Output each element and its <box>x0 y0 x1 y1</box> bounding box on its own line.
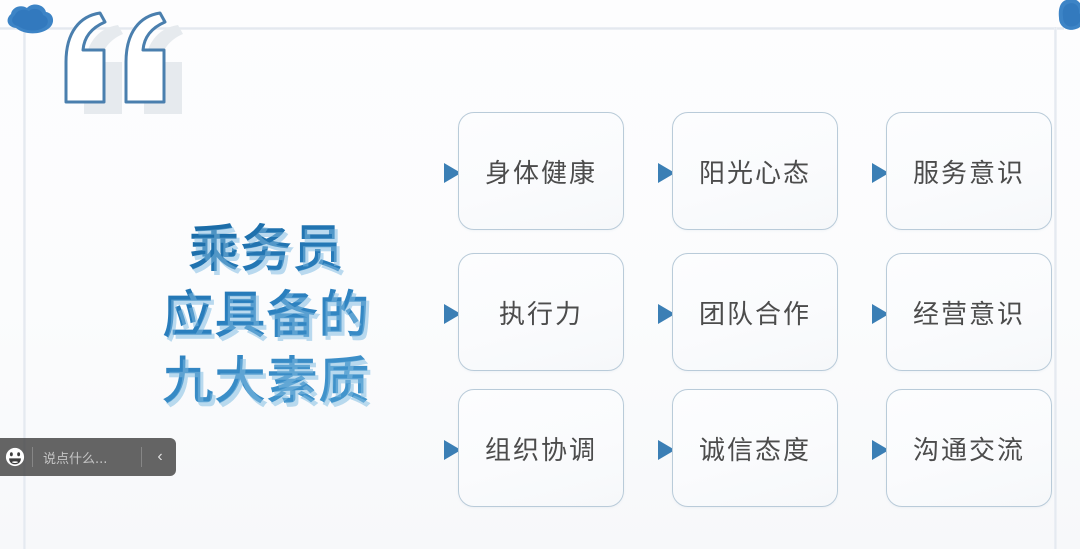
quality-label: 团队合作 <box>699 294 811 331</box>
quality-cell: 沟通交流 <box>868 389 1034 507</box>
quality-label: 身体健康 <box>485 153 597 190</box>
page-title-line-3: 九大素质 <box>142 348 392 414</box>
comment-input[interactable]: 说点什么... <box>35 448 139 467</box>
page-title-line-1: 乘务员 <box>142 216 392 282</box>
quality-box[interactable]: 组织协调 <box>458 389 624 507</box>
chevron-left-icon[interactable]: ‹ <box>144 438 176 476</box>
quality-label: 服务意识 <box>913 153 1025 190</box>
quality-cell: 组织协调 <box>440 389 606 507</box>
quality-cell: 执行力 <box>440 253 606 371</box>
quality-box[interactable]: 诚信态度 <box>672 389 838 507</box>
quality-cell: 团队合作 <box>654 253 820 371</box>
quality-box[interactable]: 服务意识 <box>886 112 1052 230</box>
page-title: 乘务员 应具备的 九大素质 <box>142 216 392 414</box>
quality-label: 阳光心态 <box>699 153 811 190</box>
quality-cell: 经营意识 <box>868 253 1034 371</box>
quality-label: 诚信态度 <box>699 430 811 467</box>
quality-box[interactable]: 团队合作 <box>672 253 838 371</box>
divider <box>32 447 33 467</box>
smiley-face-icon[interactable] <box>0 438 30 476</box>
quality-cell: 阳光心态 <box>654 112 820 230</box>
double-quote-icon <box>58 10 203 120</box>
quality-label: 经营意识 <box>913 294 1025 331</box>
quality-label: 执行力 <box>499 294 583 331</box>
comment-bar: 说点什么... ‹ <box>0 438 176 476</box>
quality-box[interactable]: 身体健康 <box>458 112 624 230</box>
quality-box[interactable]: 沟通交流 <box>886 389 1052 507</box>
quality-cell: 服务意识 <box>868 112 1034 230</box>
qualities-grid: 身体健康 阳光心态 服务意识 执行力 <box>440 112 1060 512</box>
quality-label: 组织协调 <box>485 430 597 467</box>
quality-box[interactable]: 阳光心态 <box>672 112 838 230</box>
slide-viewer: 乘务员 应具备的 九大素质 乘务员 应具备的 九大素质 身体健康 阳光心态 <box>0 0 1080 549</box>
divider <box>141 447 142 467</box>
quality-label: 沟通交流 <box>913 430 1025 467</box>
quality-box[interactable]: 执行力 <box>458 253 624 371</box>
page-title-line-2: 应具备的 <box>142 282 392 348</box>
quality-cell: 身体健康 <box>440 112 606 230</box>
quality-cell: 诚信态度 <box>654 389 820 507</box>
quality-box[interactable]: 经营意识 <box>886 253 1052 371</box>
